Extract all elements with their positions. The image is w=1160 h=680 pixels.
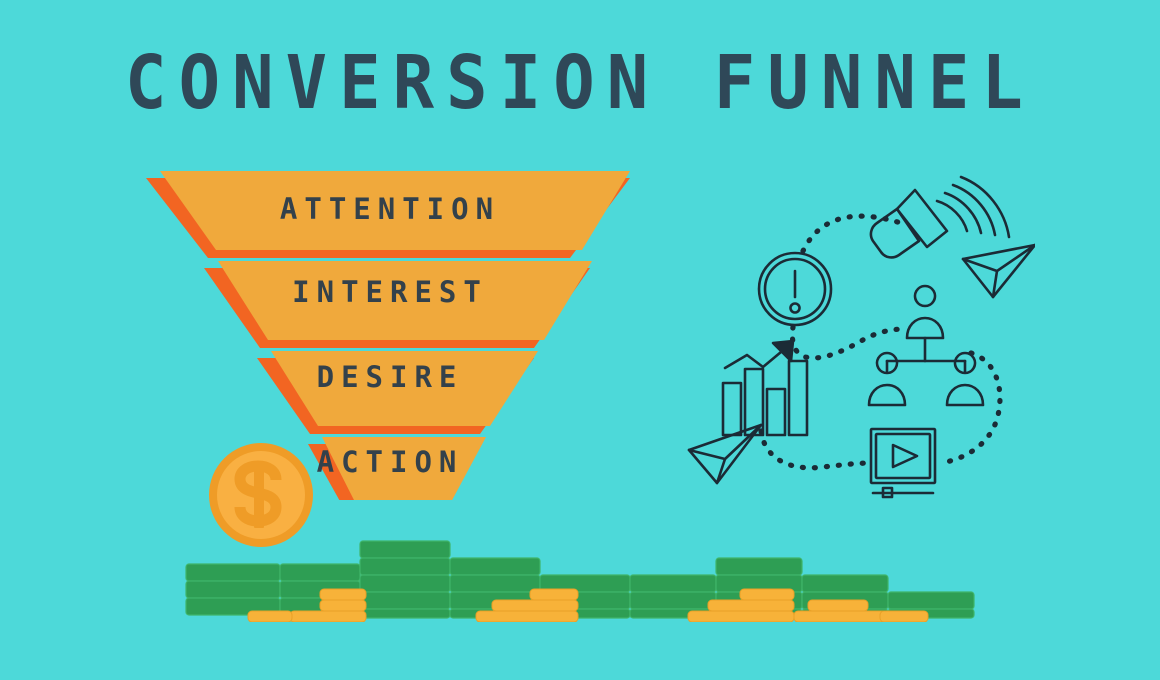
megaphone-icon [871, 177, 1009, 257]
bill-stack [360, 541, 450, 618]
coin-pile [248, 611, 292, 622]
growth-bar-chart-icon [723, 341, 807, 435]
people-network-icon [869, 286, 983, 405]
funnel-label-desire: DESIRE [180, 363, 600, 392]
bill-stack [186, 564, 280, 615]
video-player-icon [871, 429, 935, 497]
paper-plane-icon [963, 245, 1035, 297]
dotted-path [941, 353, 1000, 463]
dotted-path [761, 431, 871, 468]
page-title: CONVERSION FUNNEL [41, 46, 1120, 120]
alert-circle-icon [759, 253, 831, 325]
poster-canvas: CONVERSION FUNNEL ATTENTION INTEREST DES… [0, 0, 1160, 680]
money-stacks [180, 530, 980, 622]
marketing-channels-illustration [675, 175, 1035, 505]
dotted-path [803, 216, 901, 251]
funnel-label-attention: ATTENTION [180, 195, 600, 224]
funnel-label-interest: INTEREST [180, 278, 600, 307]
